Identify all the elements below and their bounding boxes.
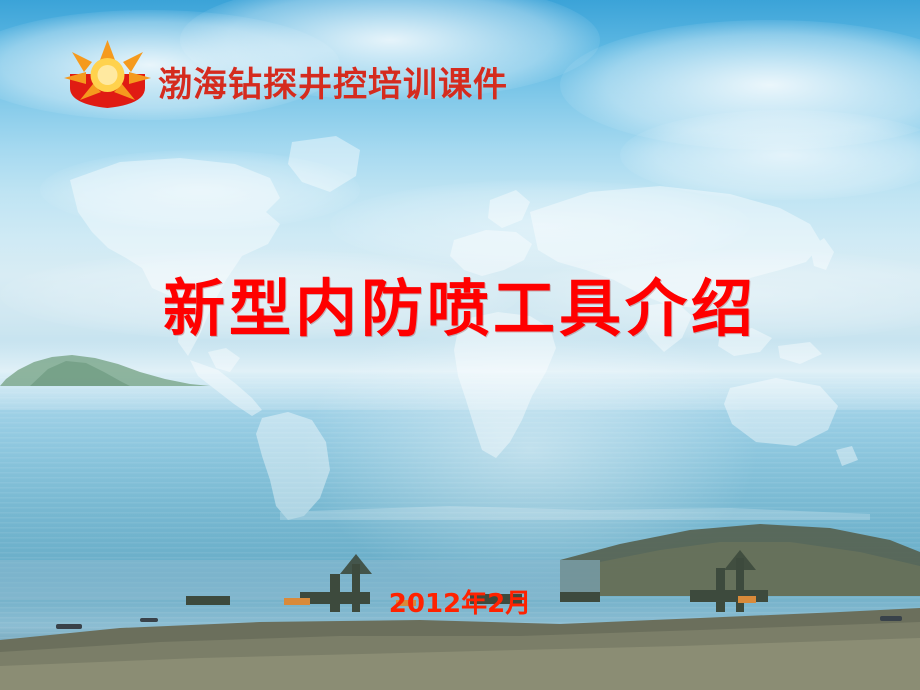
slide-date: 2012年2月 <box>0 583 920 620</box>
island-silhouette <box>0 352 210 386</box>
slide-main-title: 新型内防喷工具介绍 <box>0 258 920 348</box>
course-header-title: 渤海钻探井控培训课件 <box>158 57 508 106</box>
petrochina-sunburst-logo <box>60 38 155 110</box>
presentation-slide: 渤海钻探井控培训课件 新型内防喷工具介绍 2012年2月 <box>0 0 920 690</box>
